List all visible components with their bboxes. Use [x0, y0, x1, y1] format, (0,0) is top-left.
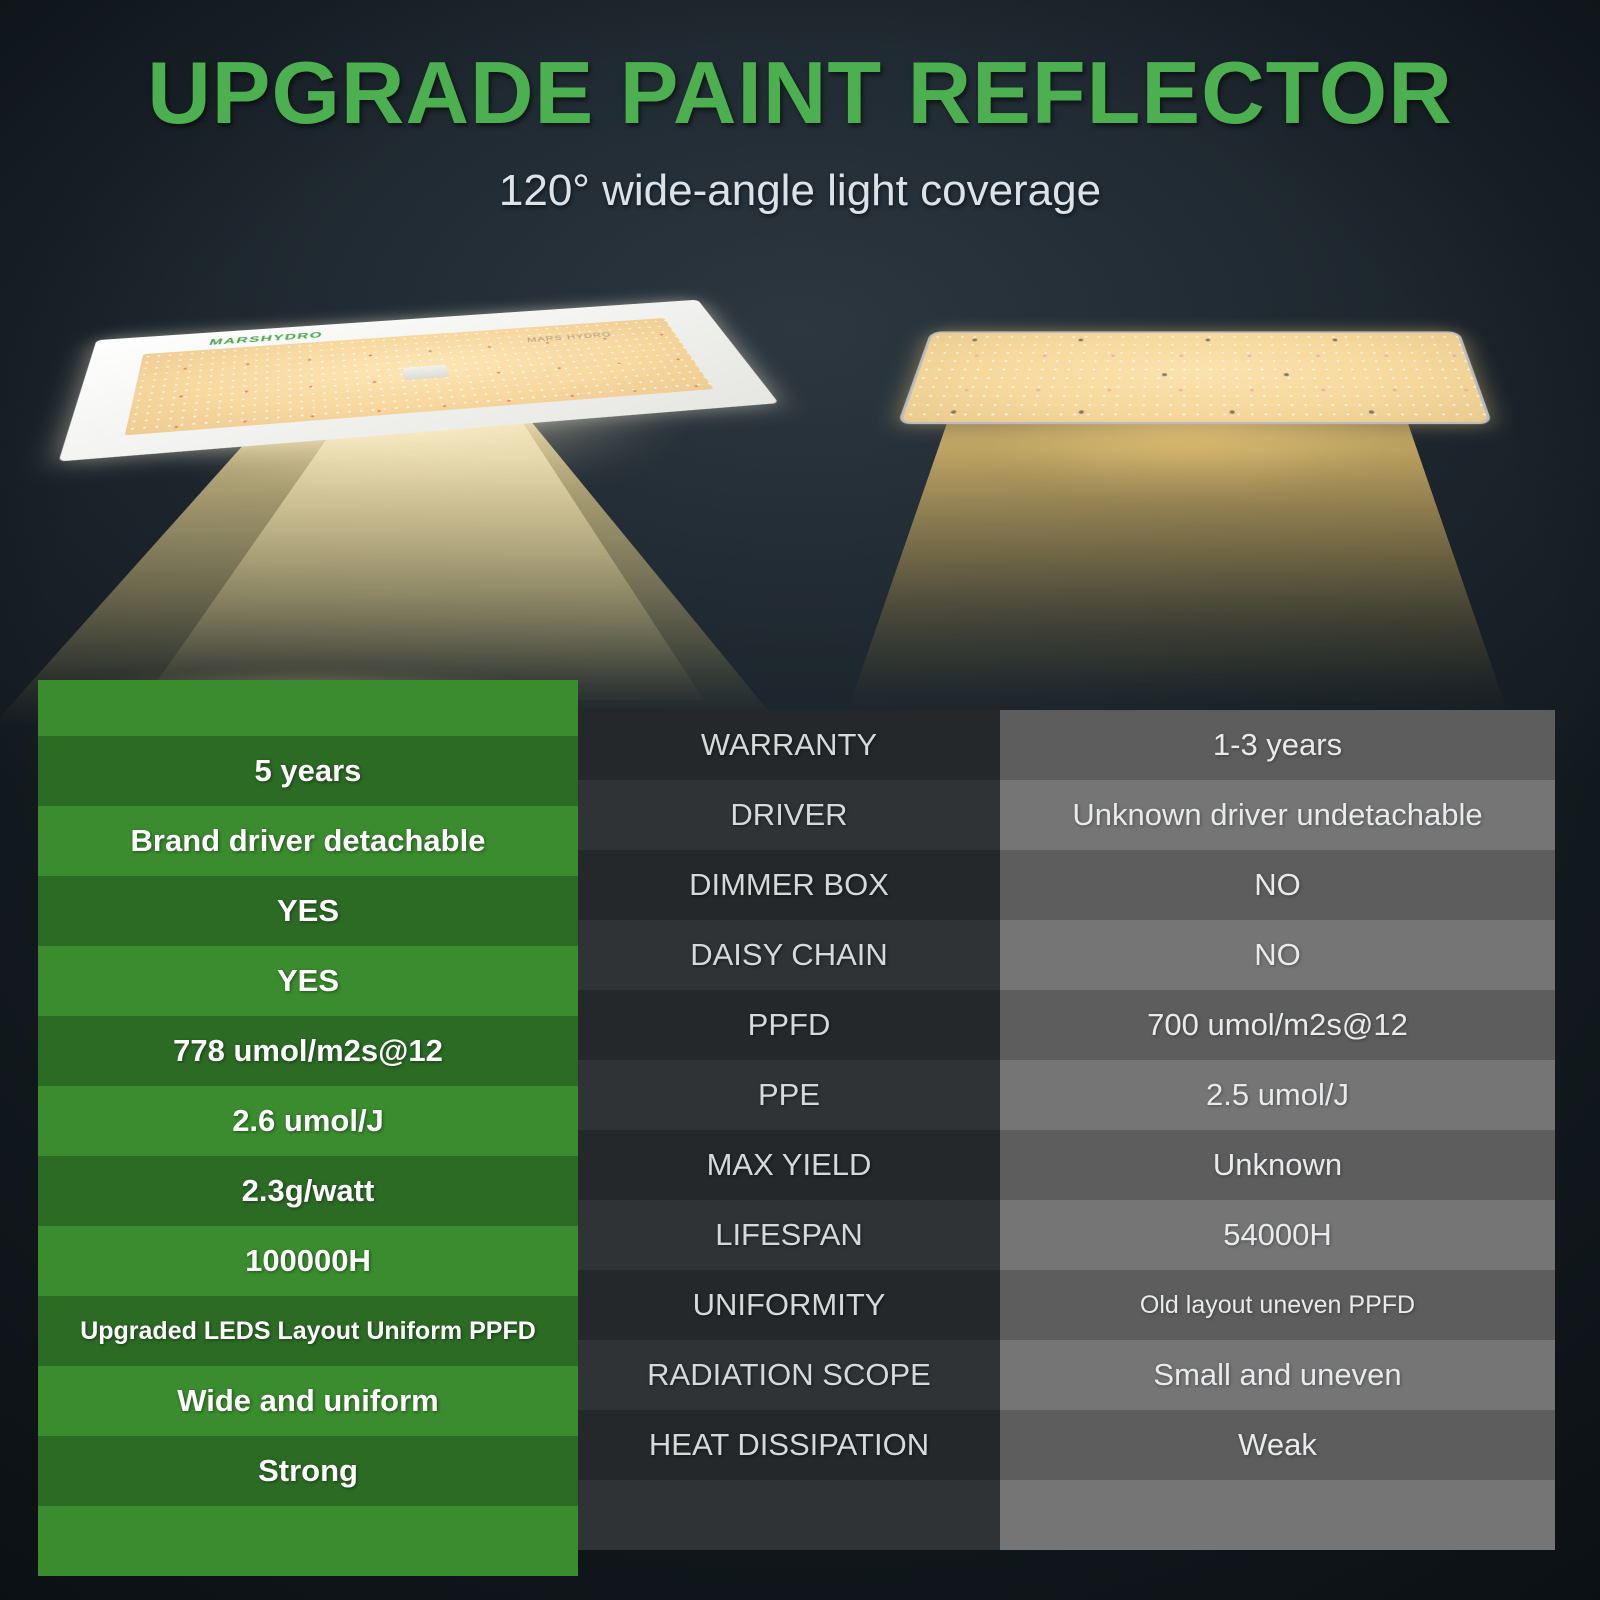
feature-label-cell: DAISY CHAIN — [578, 920, 1000, 990]
upgraded-value-cell: 5 years — [38, 736, 578, 806]
feature-label-cell: MAX YIELD — [578, 1130, 1000, 1200]
others-value-cell: NO — [1000, 850, 1555, 920]
upgraded-value-cell: 2.3g/watt — [38, 1156, 578, 1226]
others-value-cell: Unknown — [1000, 1130, 1555, 1200]
mounting-screws — [901, 333, 1488, 422]
feature-label-cell: UNIFORMITY — [578, 1270, 1000, 1340]
led-board-right — [897, 331, 1492, 424]
comparison-column-feature-labels: WARRANTYDRIVERDIMMER BOXDAISY CHAINPPFDP… — [578, 710, 1000, 1550]
led-panel-with-reflector: MARSHYDRO MARS HYDRO — [59, 300, 779, 462]
comparison-column-upgraded: 5 yearsBrand driver detachableYESYES778 … — [38, 680, 578, 1576]
upgraded-value-cell: Wide and uniform — [38, 1366, 578, 1436]
light-beam-right — [800, 420, 1540, 720]
upgraded-value-cell: Upgraded LEDS Layout Uniform PPFD — [38, 1296, 578, 1366]
upgraded-value-cell: 100000H — [38, 1226, 578, 1296]
others-value-cell — [1000, 1480, 1555, 1550]
others-value-cell: Small and uneven — [1000, 1340, 1555, 1410]
page-subtitle: 120° wide-angle light coverage — [0, 166, 1600, 216]
feature-label-cell: WARRANTY — [578, 710, 1000, 780]
upgraded-value-cell — [38, 1506, 578, 1576]
header: UPGRADE PAINT REFLECTOR 120° wide-angle … — [0, 0, 1600, 216]
others-value-cell: 1-3 years — [1000, 710, 1555, 780]
feature-label-cell: DRIVER — [578, 780, 1000, 850]
feature-label-cell — [578, 1480, 1000, 1550]
page-title: UPGRADE PAINT REFLECTOR — [0, 42, 1600, 144]
others-value-cell: NO — [1000, 920, 1555, 990]
feature-label-cell: RADIATION SCOPE — [578, 1340, 1000, 1410]
sensor-module-icon — [403, 365, 450, 381]
feature-label-cell: LIFESPAN — [578, 1200, 1000, 1270]
upgraded-value-cell: 2.6 umol/J — [38, 1086, 578, 1156]
others-value-cell: Unknown driver undetachable — [1000, 780, 1555, 850]
led-panel-without-reflector — [897, 331, 1492, 424]
others-value-cell: 2.5 umol/J — [1000, 1060, 1555, 1130]
others-value-cell: 54000H — [1000, 1200, 1555, 1270]
upgraded-value-cell: Strong — [38, 1436, 578, 1506]
others-value-cell: Weak — [1000, 1410, 1555, 1480]
feature-label-cell: PPE — [578, 1060, 1000, 1130]
upgraded-value-cell: YES — [38, 876, 578, 946]
others-value-cell: Old layout uneven PPFD — [1000, 1270, 1555, 1340]
upgraded-value-cell: YES — [38, 946, 578, 1016]
comparison-column-others: 1-3 yearsUnknown driver undetachableNONO… — [1000, 710, 1555, 1550]
others-value-cell: 700 umol/m2s@12 — [1000, 990, 1555, 1060]
upgraded-value-cell: 778 umol/m2s@12 — [38, 1016, 578, 1086]
upgraded-value-cell: Brand driver detachable — [38, 806, 578, 876]
feature-label-cell: DIMMER BOX — [578, 850, 1000, 920]
feature-label-cell: PPFD — [578, 990, 1000, 1060]
feature-label-cell: HEAT DISSIPATION — [578, 1410, 1000, 1480]
infographic-stage: MARSHYDRO MARS HYDRO UPGRADE PAINT REFLE… — [0, 0, 1600, 1600]
upgraded-column-header — [38, 680, 578, 736]
